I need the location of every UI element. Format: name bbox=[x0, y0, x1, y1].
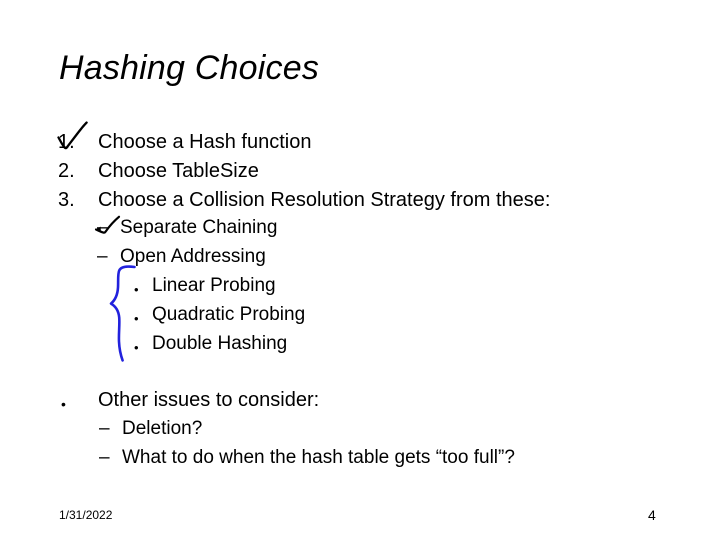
list-item-separate-chaining: Separate Chaining bbox=[120, 216, 277, 240]
list-item-linear-probing: Linear Probing bbox=[152, 274, 276, 298]
page-title: Hashing Choices bbox=[59, 48, 319, 88]
list-bullet-linear-probing: • bbox=[134, 278, 139, 302]
list-dash-too-full: – bbox=[99, 446, 110, 470]
list-bullet-quadratic-probing: • bbox=[134, 307, 139, 331]
list-dash-deletion: – bbox=[99, 417, 110, 441]
list-number-1: 1. bbox=[58, 130, 75, 154]
list-item-double-hashing: Double Hashing bbox=[152, 332, 287, 356]
list-item-other-issues: Other issues to consider: bbox=[98, 388, 319, 412]
list-item-deletion: Deletion? bbox=[122, 417, 202, 441]
slide-canvas: Hashing Choices 1. Choose a Hash functio… bbox=[0, 0, 720, 540]
footer-date: 1/31/2022 bbox=[59, 508, 112, 522]
list-item-open-addressing: Open Addressing bbox=[120, 245, 266, 269]
list-item-choose-tablesize: Choose TableSize bbox=[98, 159, 259, 183]
list-bullet-other-issues: • bbox=[61, 392, 66, 416]
list-dash-open-addressing: – bbox=[97, 245, 108, 269]
list-number-3: 3. bbox=[58, 188, 75, 212]
list-item-too-full: What to do when the hash table gets “too… bbox=[122, 446, 515, 470]
list-item-quadratic-probing: Quadratic Probing bbox=[152, 303, 305, 327]
footer-page-number: 4 bbox=[648, 507, 656, 523]
list-item-choose-collision-resolution: Choose a Collision Resolution Strategy f… bbox=[98, 188, 550, 212]
list-item-choose-hash-function: Choose a Hash function bbox=[98, 130, 311, 154]
list-number-2: 2. bbox=[58, 159, 75, 183]
list-bullet-double-hashing: • bbox=[134, 336, 139, 360]
list-dash-separate-chaining: – bbox=[97, 216, 108, 240]
